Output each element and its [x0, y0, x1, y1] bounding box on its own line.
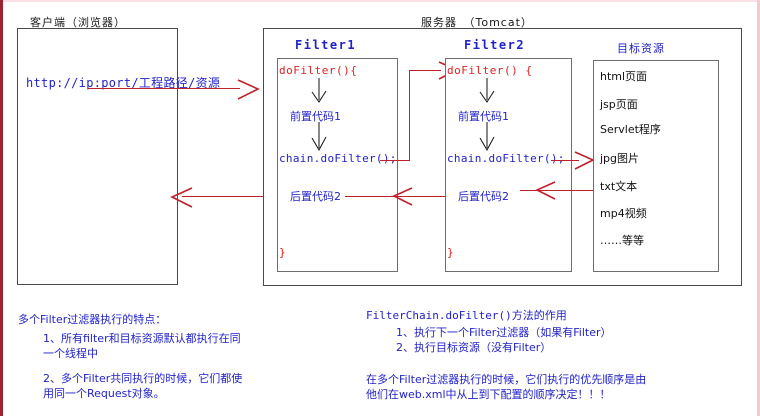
- client-box: [17, 28, 178, 285]
- filter1-title: Filter1: [295, 38, 356, 52]
- target-resource-item: Servlet程序: [600, 121, 661, 137]
- filter1-box: [277, 58, 398, 272]
- target-resource-item: html页面: [600, 68, 647, 84]
- filter2-chain-call: chain.doFilter();: [447, 152, 565, 165]
- filter1-chain-call: chain.doFilter();: [279, 152, 397, 165]
- filter2-open-line: doFilter() {: [447, 64, 532, 77]
- filter2-flow-arrow-2-icon: [473, 122, 501, 154]
- note-right-conclusion: 在多个Filter过滤器执行的时候，它们执行的优先顺序是由 他们在web.xml…: [366, 372, 646, 402]
- note-left-item-2: 2、多个Filter共同执行的时候，它们都使 用同一个Request对象。: [43, 371, 242, 401]
- target-resource-item: mp4视频: [600, 205, 647, 221]
- filter2-flow-arrow-1-icon: [473, 78, 501, 106]
- response-arrow-head-icon: [168, 186, 194, 208]
- filter1-open-line: doFilter(){: [279, 64, 357, 77]
- target-resource-item: jpg图片: [600, 150, 639, 166]
- filter1-post-code: 后置代码2: [290, 188, 341, 204]
- filter1-flow-arrow-2-icon: [305, 122, 333, 154]
- filter1-close-line: }: [279, 246, 286, 259]
- request-arrow-line: [88, 88, 240, 89]
- chain1-riser-line: [409, 70, 410, 161]
- note-right-item-2: 2、执行目标资源（没有Filter）: [396, 340, 551, 355]
- target-resource-title: 目标资源: [617, 40, 665, 56]
- target-resource-item: jsp页面: [600, 96, 638, 112]
- page-edge-left-rule: [0, 0, 3, 416]
- note-left-item-1: 1、所有filter和目标资源默认都执行在同 一个线程中: [43, 331, 241, 361]
- target-return-arrow-head-icon: [533, 180, 557, 201]
- filter2-return-arrow-head-icon: [390, 186, 414, 207]
- diagram-canvas: 客户端（浏览器） http://ip:port/工程路径/资源 服务器 （Tom…: [0, 0, 760, 416]
- note-right-heading: FilterChain.doFilter()方法的作用: [366, 308, 567, 323]
- filter2-close-line: }: [447, 246, 454, 259]
- page-edge-top-rule: [3, 0, 757, 2]
- filter1-flow-arrow-1-icon: [305, 78, 333, 106]
- target-resource-item: ……等等: [600, 232, 644, 248]
- note-left-heading: 多个Filter过滤器执行的特点：: [18, 312, 166, 327]
- note-right-item-1: 1、执行下一个Filter过滤器（如果有Filter）: [396, 325, 611, 340]
- chain1-exit-line: [380, 160, 410, 161]
- filter2-title: Filter2: [464, 38, 525, 52]
- filter2-box: [445, 58, 572, 272]
- filter2-post-code: 后置代码2: [458, 188, 509, 204]
- target-resource-item: txt文本: [600, 178, 637, 194]
- request-arrow-head-icon: [236, 78, 262, 100]
